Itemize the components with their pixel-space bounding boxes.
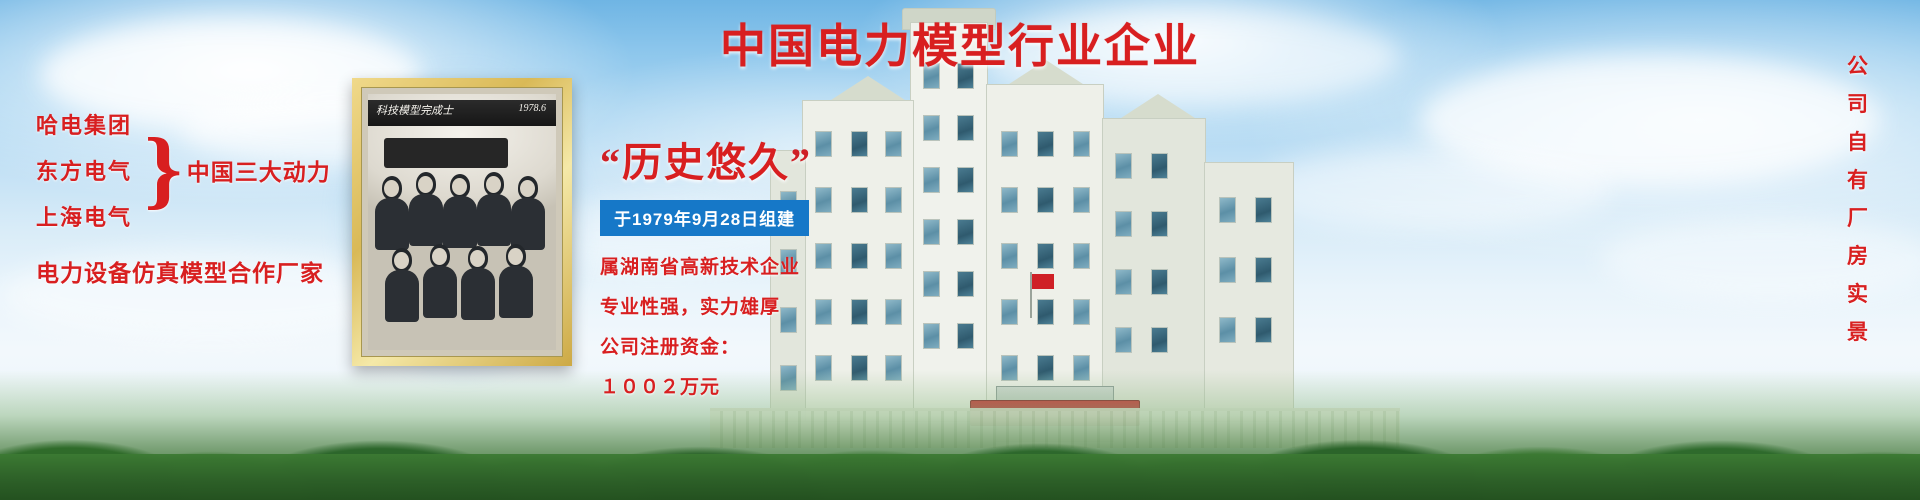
vertical-char: 自 bbox=[1847, 132, 1868, 153]
building-gable bbox=[828, 76, 908, 102]
photo-people-group bbox=[368, 170, 556, 350]
right-vertical-caption: 公 司 自 有 厂 房 实 景 bbox=[1847, 56, 1868, 360]
middle-text-block: “历史悠久” 于1979年9月28日组建 属湖南省高新技术企业 专业性强，实力雄… bbox=[600, 130, 890, 412]
detail-line: １００２万元 bbox=[600, 372, 890, 399]
historic-group-photo: 科技模型完成士 1978.6 bbox=[368, 94, 556, 350]
quote-close: ” bbox=[790, 140, 812, 185]
photo-table bbox=[384, 138, 508, 168]
promo-banner: 中国电力模型行业企业 哈电集团 东方电气 上海电气 } 中国三大动力 电力设备仿… bbox=[0, 0, 1920, 500]
company-name: 东方电气 bbox=[36, 154, 132, 186]
company-list: 哈电集团 东方电气 上海电气 bbox=[36, 108, 132, 232]
page-title: 中国电力模型行业企业 bbox=[0, 10, 1920, 76]
red-flag bbox=[1032, 274, 1054, 289]
cloud bbox=[1600, 220, 1920, 300]
detail-line: 公司注册资金： bbox=[600, 332, 890, 359]
company-brace-group: 哈电集团 东方电气 上海电气 } 中国三大动力 bbox=[36, 108, 331, 232]
curly-brace-icon: } bbox=[144, 138, 182, 201]
left-tagline: 电力设备仿真模型合作厂家 bbox=[36, 254, 331, 288]
vertical-char: 厂 bbox=[1847, 208, 1868, 229]
photo-mat: 科技模型完成士 1978.6 bbox=[361, 87, 563, 357]
middle-detail-lines: 属湖南省高新技术企业 专业性强，实力雄厚 公司注册资金： １００２万元 bbox=[600, 252, 890, 399]
brace-label: 中国三大动力 bbox=[187, 153, 331, 187]
vertical-char: 有 bbox=[1847, 170, 1868, 191]
company-name: 哈电集团 bbox=[36, 108, 132, 140]
historic-photo-frame: 科技模型完成士 1978.6 bbox=[352, 78, 572, 366]
middle-headline: “历史悠久” bbox=[600, 130, 890, 188]
headline-text: 历史悠久 bbox=[622, 141, 790, 185]
building-gable bbox=[1118, 94, 1198, 120]
vertical-char: 实 bbox=[1847, 284, 1868, 305]
quote-open: “ bbox=[600, 140, 622, 185]
photo-date: 1978.6 bbox=[519, 103, 547, 114]
founding-date-badge: 于1979年9月28日组建 bbox=[600, 200, 809, 236]
detail-line: 属湖南省高新技术企业 bbox=[600, 252, 890, 279]
vertical-char: 司 bbox=[1847, 94, 1868, 115]
hedge-row bbox=[0, 454, 1920, 500]
company-name: 上海电气 bbox=[36, 200, 132, 232]
vertical-char: 公 bbox=[1847, 56, 1868, 77]
vertical-char: 房 bbox=[1847, 246, 1868, 267]
building-tower bbox=[910, 22, 988, 422]
left-text-block: 哈电集团 东方电气 上海电气 } 中国三大动力 电力设备仿真模型合作厂家 bbox=[36, 108, 331, 288]
detail-line: 专业性强，实力雄厚 bbox=[600, 292, 890, 319]
vertical-char: 景 bbox=[1847, 322, 1868, 343]
